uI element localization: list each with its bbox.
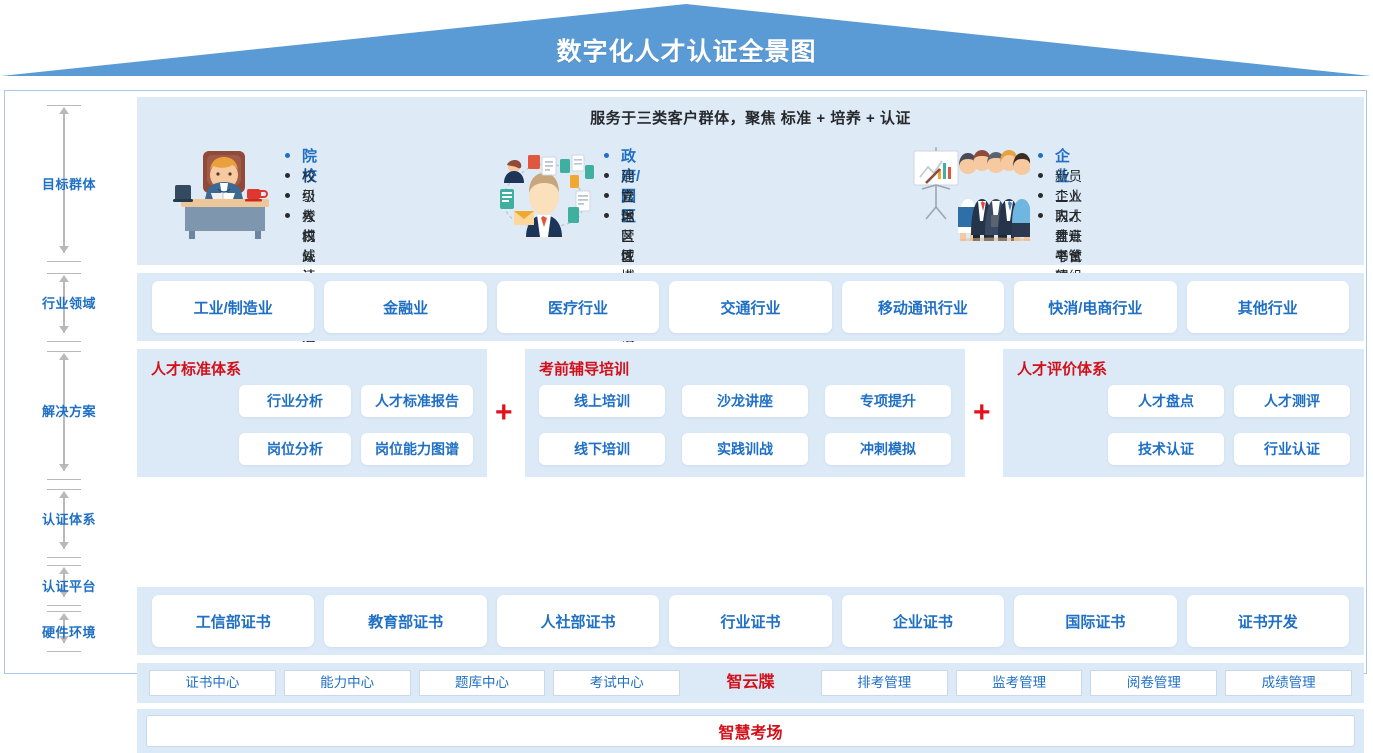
solution-group-title: 人才标准体系 <box>151 358 241 379</box>
industry-card-strip: 工业/制造业 金融业 医疗行业 交通行业 移动通讯行业 快消/电商行业 其他行业 <box>147 281 1354 333</box>
platform-chip[interactable]: 阅卷管理 <box>1090 670 1217 696</box>
industry-card[interactable]: 其他行业 <box>1187 281 1349 333</box>
bullet-icon <box>285 153 290 158</box>
platform-chip[interactable]: 能力中心 <box>284 670 411 696</box>
solution-group-evaluation[interactable]: 人才评价体系 人才盘点 人才测评 技术认证 行业认证 <box>1003 349 1364 477</box>
page-title: 数字化人才认证全景图 <box>0 32 1373 68</box>
platform-chip[interactable]: 排考管理 <box>821 670 948 696</box>
solution-chip[interactable]: 行业分析 <box>239 385 351 417</box>
solution-group-training[interactable]: 考前辅导培训 线上培训 沙龙讲座 专项提升 线下培训 实践训战 冲刺模拟 <box>525 349 965 477</box>
plus-separator-2: + <box>973 399 991 427</box>
platform-chip[interactable]: 监考管理 <box>956 670 1083 696</box>
certification-card[interactable]: 教育部证书 <box>324 595 486 647</box>
platform-chip[interactable]: 证书中心 <box>149 670 276 696</box>
industry-card[interactable]: 金融业 <box>324 281 486 333</box>
target-group-academy-list: 院校 校级考试认证中心建立 引入权威认证体系 校内外认证考试组织实施 <box>285 147 317 227</box>
hardware-band: 智慧考场 <box>137 709 1364 753</box>
target-group-government-list: 政府/园区 建立地区性人才考试认证中心 管理区域人才认证情况 运营区域人才培训考… <box>604 147 640 227</box>
hardware-card[interactable]: 智慧考场 <box>146 715 1355 747</box>
bullet-icon <box>1038 193 1043 198</box>
solution-group-standard[interactable]: 人才标准体系 行业分析 人才标准报告 岗位分析 岗位能力图谱 <box>137 349 487 477</box>
teacher-at-desk-illustration <box>173 145 277 241</box>
target-group-band: 服务于三类客户群体，聚焦 标准 + 培养 + 认证 <box>137 97 1364 265</box>
solution-chip[interactable]: 冲刺模拟 <box>825 433 951 465</box>
industry-card[interactable]: 工业/制造业 <box>152 281 314 333</box>
bullet-icon <box>285 193 290 198</box>
target-group-enterprise-list: 企业 新员工入职、晋升考试的组织 企业内人才证书管理 人才盘点平台 <box>1038 147 1082 227</box>
rail-label-industry: 行业领域 <box>5 293 133 312</box>
bullet-icon <box>285 173 290 178</box>
target-group-caption: 服务于三类客户群体，聚焦 标准 + 培养 + 认证 <box>137 107 1364 128</box>
rail-label-target-group: 目标群体 <box>5 174 133 193</box>
solution-chip[interactable]: 人才标准报告 <box>361 385 473 417</box>
industry-card[interactable]: 移动通讯行业 <box>842 281 1004 333</box>
solution-chip[interactable]: 线上培训 <box>539 385 665 417</box>
bullet-icon <box>1038 213 1043 218</box>
plus-separator-1: + <box>495 399 513 427</box>
solution-row: 人才标准体系 行业分析 人才标准报告 岗位分析 岗位能力图谱 + 考前辅导培训 <box>137 349 1364 477</box>
rail-label-solution: 解决方案 <box>5 401 133 420</box>
industry-card[interactable]: 交通行业 <box>669 281 831 333</box>
certification-card-strip: 工信部证书 教育部证书 人社部证书 行业证书 企业证书 国际证书 证书开发 <box>147 595 1354 647</box>
certification-card[interactable]: 企业证书 <box>842 595 1004 647</box>
platform-chip[interactable]: 考试中心 <box>553 670 680 696</box>
certification-band: 工信部证书 教育部证书 人社部证书 行业证书 企业证书 国际证书 证书开发 <box>137 587 1364 655</box>
bullet-icon <box>1038 153 1043 158</box>
stage-rail: 目标群体 行业领域 解决方案 认证体系 认证平台 硬件环境 <box>5 91 133 673</box>
industry-band: 工业/制造业 金融业 医疗行业 交通行业 移动通讯行业 快消/电商行业 其他行业 <box>137 273 1364 341</box>
certification-card[interactable]: 国际证书 <box>1014 595 1176 647</box>
solution-chip[interactable]: 专项提升 <box>825 385 951 417</box>
rail-label-certification: 认证体系 <box>5 509 133 528</box>
solution-chip[interactable]: 岗位分析 <box>239 433 351 465</box>
bullet-icon <box>285 213 290 218</box>
certification-card[interactable]: 工信部证书 <box>152 595 314 647</box>
solution-chip[interactable]: 人才测评 <box>1234 385 1350 417</box>
list-item: 人才盘点平台 <box>1055 207 1082 267</box>
solution-chip[interactable]: 技术认证 <box>1108 433 1224 465</box>
solution-group-title: 人才评价体系 <box>1017 358 1107 379</box>
certification-card[interactable]: 人社部证书 <box>497 595 659 647</box>
industry-card[interactable]: 快消/电商行业 <box>1014 281 1176 333</box>
bullet-icon <box>604 213 609 218</box>
solution-chip[interactable]: 实践训战 <box>682 433 808 465</box>
title-banner: 数字化人才认证全景图 <box>0 0 1373 84</box>
solution-chip[interactable]: 线下培训 <box>539 433 665 465</box>
industry-card[interactable]: 医疗行业 <box>497 281 659 333</box>
certification-card[interactable]: 证书开发 <box>1187 595 1349 647</box>
platform-brand-label: 智云牒 <box>688 670 813 696</box>
rail-label-hardware: 硬件环境 <box>5 622 133 641</box>
solution-group-title: 考前辅导培训 <box>539 358 629 379</box>
solution-chip[interactable]: 沙龙讲座 <box>682 385 808 417</box>
rail-label-platform: 认证平台 <box>5 576 133 595</box>
solution-chip[interactable]: 人才盘点 <box>1108 385 1224 417</box>
solution-chip[interactable]: 行业认证 <box>1234 433 1350 465</box>
bullet-icon <box>604 193 609 198</box>
solution-chip[interactable]: 岗位能力图谱 <box>361 433 473 465</box>
bullet-icon <box>604 173 609 178</box>
panorama-frame: 目标群体 行业领域 解决方案 认证体系 认证平台 硬件环境 服务于三类客户群体，… <box>4 90 1367 674</box>
bullet-icon <box>1038 173 1043 178</box>
bullet-icon <box>604 153 609 158</box>
government-network-illustration <box>492 145 596 241</box>
certification-card[interactable]: 行业证书 <box>669 595 831 647</box>
platform-chip[interactable]: 成绩管理 <box>1225 670 1352 696</box>
platform-band: 证书中心 能力中心 题库中心 考试中心 智云牒 排考管理 监考管理 阅卷管理 成… <box>137 663 1364 703</box>
business-team-illustration <box>912 145 1016 241</box>
platform-chip[interactable]: 题库中心 <box>419 670 546 696</box>
platform-strip: 证书中心 能力中心 题库中心 考试中心 智云牒 排考管理 监考管理 阅卷管理 成… <box>145 669 1356 697</box>
